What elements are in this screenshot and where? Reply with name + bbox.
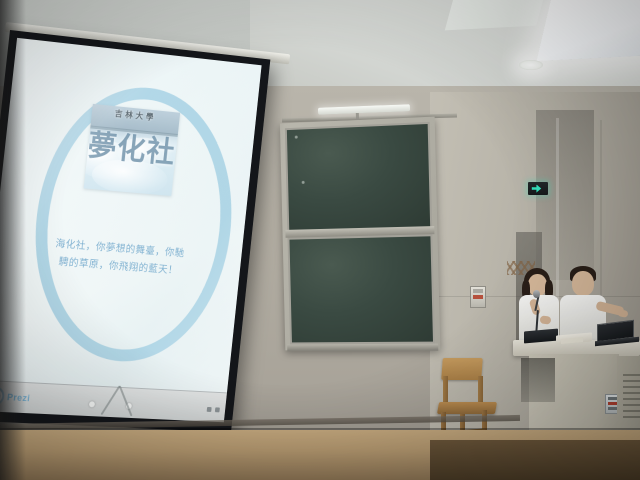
prezi-control-icon[interactable]	[215, 407, 220, 412]
prezi-nav-dot[interactable]	[89, 401, 95, 407]
exit-arrow-icon	[532, 185, 545, 193]
head	[572, 271, 594, 296]
emergency-exit-sign	[528, 182, 548, 195]
floor-shadowed-right	[430, 440, 640, 480]
control-box-indicator	[473, 295, 483, 299]
chalkboard-panel-upper	[285, 122, 432, 232]
left-edge-shadow	[0, 0, 26, 480]
classroom-scene: 吉林大學 夢化社 海化社，你夢想的舞臺，你馳 騁的草原，你飛翔的藍天！ Prez…	[0, 0, 640, 480]
slide-poster-image: 吉林大學 夢化社	[83, 104, 179, 196]
control-box-slot	[473, 289, 483, 293]
chalkboard-panel-lower	[287, 234, 435, 344]
laptop[interactable]	[597, 322, 640, 344]
ceiling-light-panel	[536, 0, 640, 61]
chalkboard	[280, 117, 440, 351]
podium-shelf	[521, 358, 555, 402]
prezi-controls[interactable]	[207, 407, 220, 412]
chalk-tray	[287, 344, 438, 352]
microphone-icon	[533, 290, 540, 298]
prezi-toolbar[interactable]: Prezi	[0, 380, 227, 423]
projected-slide: 吉林大學 夢化社 海化社，你夢想的舞臺，你馳 騁的草原，你飛翔的藍天！ Prez…	[0, 38, 262, 422]
projection-screen[interactable]: 吉林大學 夢化社 海化社，你夢想的舞臺，你馳 騁的草原，你飛翔的藍天！ Prez…	[0, 30, 270, 432]
wall-alcove	[536, 110, 594, 280]
hand	[539, 315, 551, 324]
prezi-control-icon[interactable]	[207, 407, 212, 412]
wall-control-box[interactable]	[470, 286, 486, 308]
ceiling-light	[519, 60, 543, 70]
